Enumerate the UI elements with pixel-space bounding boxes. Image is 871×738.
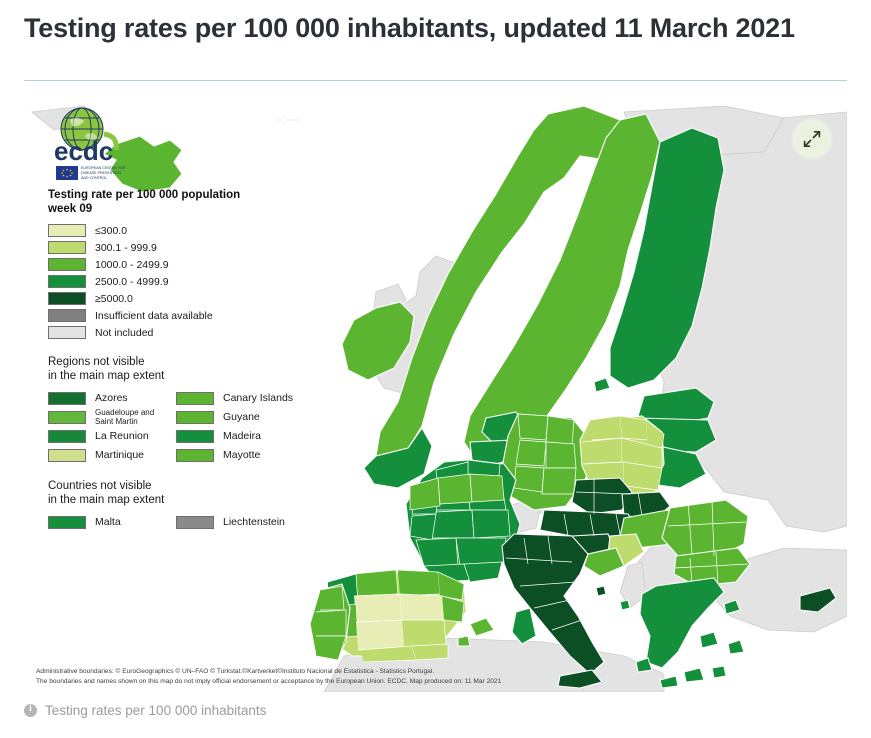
regions-heading-line2: in the main map extent xyxy=(48,370,164,382)
region-item: Azores xyxy=(48,389,176,407)
country-item: Malta xyxy=(48,513,176,531)
legend-label: ≥5000.0 xyxy=(95,293,133,305)
country-label: Liechtenstein xyxy=(223,516,285,528)
expand-fullscreen-button[interactable] xyxy=(791,118,833,160)
regions-column-left: AzoresGuadeloupe and Saint MartinLa Reun… xyxy=(48,389,176,465)
legend-swatch xyxy=(48,275,86,288)
legend-swatch xyxy=(48,292,86,305)
country-item: Liechtenstein xyxy=(176,513,285,531)
region-swatch xyxy=(48,392,86,405)
info-icon: i xyxy=(24,704,37,717)
country-swatch xyxy=(48,516,86,529)
ecdc-logo-subtitle: EUROPEAN CENTRE FOR DISEASE PREVENTION A… xyxy=(81,166,126,180)
legend-label: Not included xyxy=(95,327,153,339)
legend-label: 300.1 - 999.9 xyxy=(95,242,157,254)
legend-label: 2500.0 - 4999.9 xyxy=(95,276,169,288)
countries-column-right: Liechtenstein xyxy=(176,513,285,532)
region-label: Guyane xyxy=(223,411,260,423)
region-label: Mayotte xyxy=(223,449,260,461)
svg-text:EUROPEAN CENTRE FOR: EUROPEAN CENTRE FOR xyxy=(81,166,126,170)
legend-item: ≤300.0 xyxy=(48,222,300,239)
map-legend: ecdc EUROPEAN CENTRE FOR DISEASE PREVENT… xyxy=(38,104,300,532)
region-label: Azores xyxy=(95,392,128,404)
legend-swatch xyxy=(48,258,86,271)
regions-heading-line1: Regions not visible xyxy=(48,356,145,368)
page-title: Testing rates per 100 000 inhabitants, u… xyxy=(24,6,847,45)
region-swatch xyxy=(176,449,214,462)
countries-grid: Malta Liechtenstein xyxy=(48,513,300,532)
region-item: Guadeloupe and Saint Martin xyxy=(48,408,176,426)
region-swatch xyxy=(48,449,86,462)
countries-column-left: Malta xyxy=(48,513,176,532)
region-label: La Reunion xyxy=(95,430,149,442)
legend-label: 1000.0 - 2499.9 xyxy=(95,259,169,271)
region-swatch xyxy=(176,430,214,443)
countries-heading-line1: Countries not visible xyxy=(48,480,152,492)
eu-flag-icon xyxy=(56,166,78,180)
legend-title-line2: week 09 xyxy=(48,203,92,215)
map-panel[interactable]: .b1{fill:#e8ecb5;} .b2{fill:#bedb6e;} .b… xyxy=(24,96,847,692)
country-swatch xyxy=(176,516,214,529)
expand-fullscreen-icon xyxy=(802,129,822,149)
legend-swatch xyxy=(48,326,86,339)
map-region-romania-bulgaria[interactable] xyxy=(662,500,750,586)
region-label: Guadeloupe and Saint Martin xyxy=(95,408,173,426)
legend-item: 2500.0 - 4999.9 xyxy=(48,273,300,290)
region-label: Canary Islands xyxy=(223,392,293,404)
legend-swatch xyxy=(48,241,86,254)
legend-swatch xyxy=(48,224,86,237)
countries-section-heading: Countries not visible in the main map ex… xyxy=(48,479,300,507)
legend-item: Insufficient data available xyxy=(48,307,300,324)
region-item: Mayotte xyxy=(176,446,293,464)
map-attribution-footnote: Administrative boundaries: © EuroGeograp… xyxy=(36,667,736,686)
region-label: Madeira xyxy=(223,430,261,442)
legend-item: 1000.0 - 2499.9 xyxy=(48,256,300,273)
legend-item: Not included xyxy=(48,324,300,341)
region-swatch xyxy=(176,411,214,424)
caption-bar: i Testing rates per 100 000 inhabitants xyxy=(24,698,266,722)
region-item: Madeira xyxy=(176,427,293,445)
ecdc-wordmark: ecdc xyxy=(54,136,113,166)
region-item: La Reunion xyxy=(48,427,176,445)
region-swatch xyxy=(48,411,86,424)
region-item: Guyane xyxy=(176,408,293,426)
ecdc-logo: ecdc EUROPEAN CENTRE FOR DISEASE PREVENT… xyxy=(46,104,142,182)
legend-label: Insufficient data available xyxy=(95,310,213,322)
legend-item: 300.1 - 999.9 xyxy=(48,239,300,256)
svg-text:DISEASE PREVENTION: DISEASE PREVENTION xyxy=(81,171,121,175)
country-label: Malta xyxy=(95,516,121,528)
caption-text: Testing rates per 100 000 inhabitants xyxy=(45,703,266,718)
legend-title: Testing rate per 100 000 population week… xyxy=(48,188,300,216)
region-item: Martinique xyxy=(48,446,176,464)
regions-grid: AzoresGuadeloupe and Saint MartinLa Reun… xyxy=(48,389,300,465)
legend-swatch xyxy=(48,309,86,322)
legend-label: ≤300.0 xyxy=(95,225,127,237)
legend-title-line1: Testing rate per 100 000 population xyxy=(48,189,240,201)
countries-heading-line2: in the main map extent xyxy=(48,494,164,506)
legend-items: ≤300.0300.1 - 999.91000.0 - 2499.92500.0… xyxy=(38,222,300,341)
region-swatch xyxy=(48,430,86,443)
regions-column-right: Canary IslandsGuyaneMadeiraMayotte xyxy=(176,389,293,465)
attribution-line-2: The boundaries and names shown on this m… xyxy=(36,677,736,687)
region-label: Martinique xyxy=(95,449,144,461)
region-item: Canary Islands xyxy=(176,389,293,407)
attribution-line-1: Administrative boundaries: © EuroGeograp… xyxy=(36,667,736,677)
regions-section-heading: Regions not visible in the main map exte… xyxy=(48,355,300,383)
title-block: Testing rates per 100 000 inhabitants, u… xyxy=(0,0,871,88)
title-divider xyxy=(24,80,847,81)
legend-item: ≥5000.0 xyxy=(48,290,300,307)
region-swatch xyxy=(176,392,214,405)
svg-text:AND CONTROL: AND CONTROL xyxy=(81,176,107,180)
